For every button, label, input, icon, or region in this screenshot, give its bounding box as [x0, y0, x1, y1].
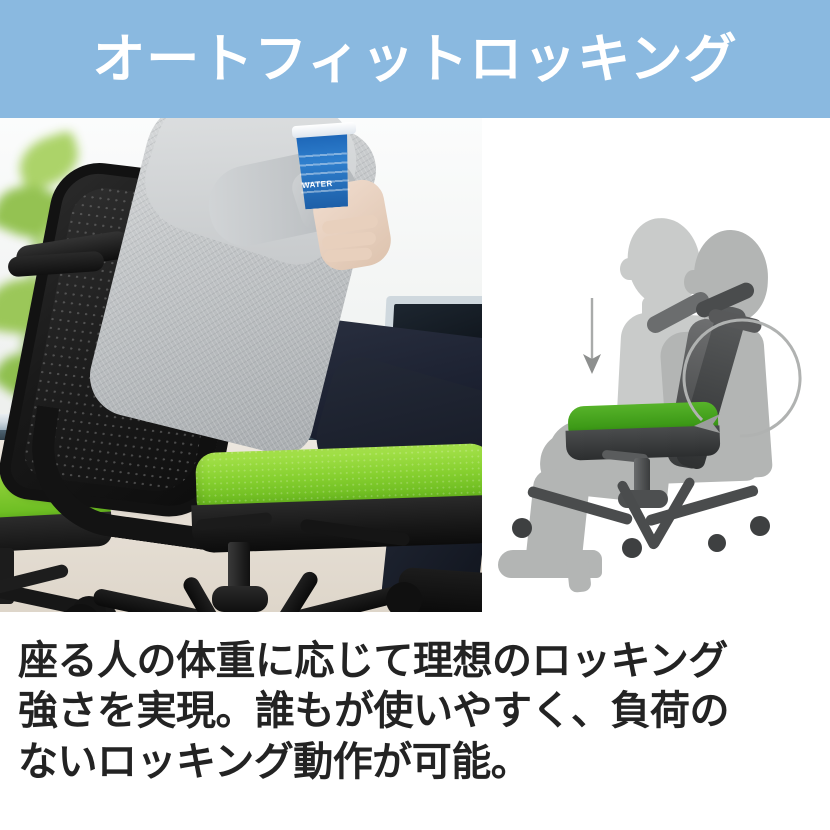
caption-line-2: 強さを実現。誰もが使いやすく、負荷の: [18, 686, 814, 736]
silhouette-front-heel: [566, 557, 591, 593]
caption-line-3: ないロッキング動作が可能。: [18, 737, 814, 787]
office-chair-photo: WATER: [0, 118, 482, 612]
page-title: オートフィットロッキング: [92, 33, 737, 86]
diagram-chair-caster: [512, 518, 532, 538]
diagram-chair-caster: [750, 516, 770, 536]
silhouette-back-nose: [620, 258, 638, 280]
header-banner: オートフィットロッキング: [0, 0, 830, 118]
downward-weight-arrow: [572, 296, 612, 376]
rocking-mechanism-diagram: [482, 118, 830, 612]
diagram-chair-caster: [622, 538, 642, 558]
diagram-chair-caster: [708, 534, 726, 552]
rocking-rotation-arrow: [680, 300, 830, 450]
product-feature-panel: オートフィットロッキング: [0, 0, 830, 830]
chair-base-hub: [212, 586, 268, 612]
caption-block: 座る人の体重に応じて理想のロッキング 強さを実現。誰もが使いやすく、負荷の ない…: [0, 614, 830, 830]
silhouette-front-nose: [684, 270, 702, 294]
media-band: WATER: [0, 118, 830, 612]
chair-caster: [386, 582, 422, 612]
caption-line-1: 座る人の体重に応じて理想のロッキング: [18, 636, 814, 686]
